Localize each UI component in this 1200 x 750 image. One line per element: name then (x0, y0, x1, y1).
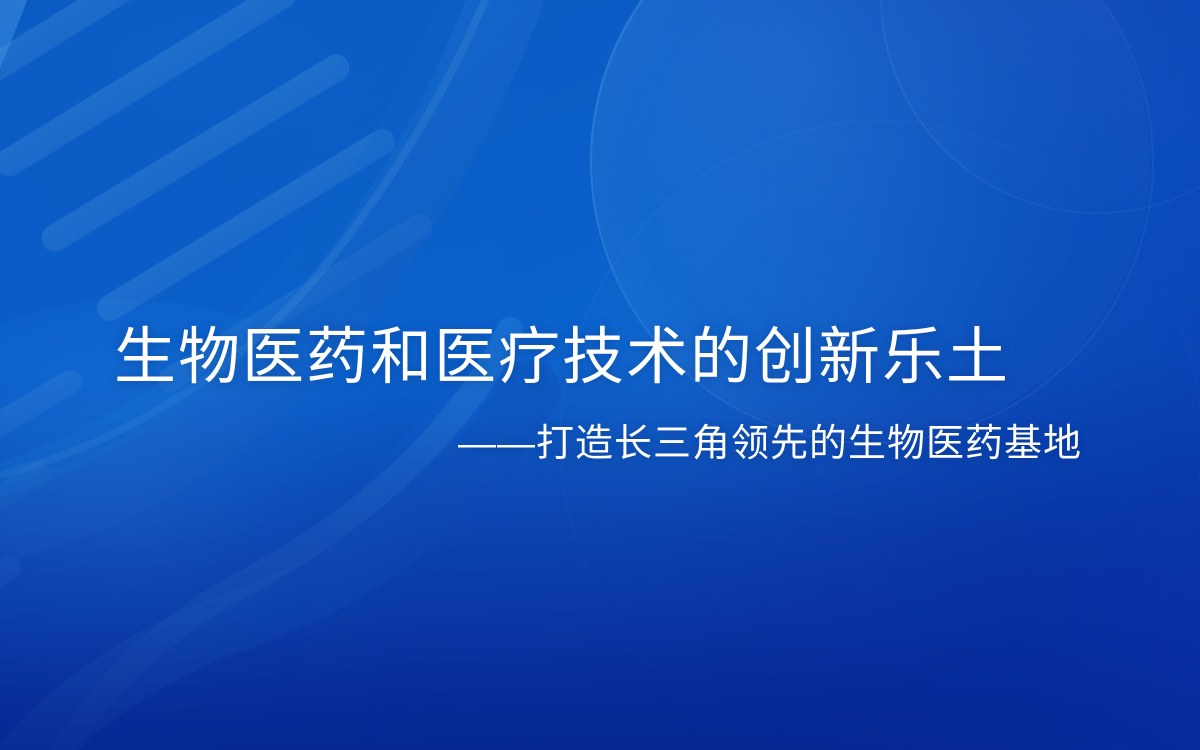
banner-text-block: 生物医药和医疗技术的创新乐土 ——打造长三角领先的生物医药基地 (0, 318, 1082, 468)
promo-banner: 生物医药和医疗技术的创新乐土 ——打造长三角领先的生物医药基地 (0, 0, 1200, 750)
banner-subheadline: ——打造长三角领先的生物医药基地 (0, 420, 1082, 468)
banner-headline: 生物医药和医疗技术的创新乐土 (0, 318, 1082, 398)
